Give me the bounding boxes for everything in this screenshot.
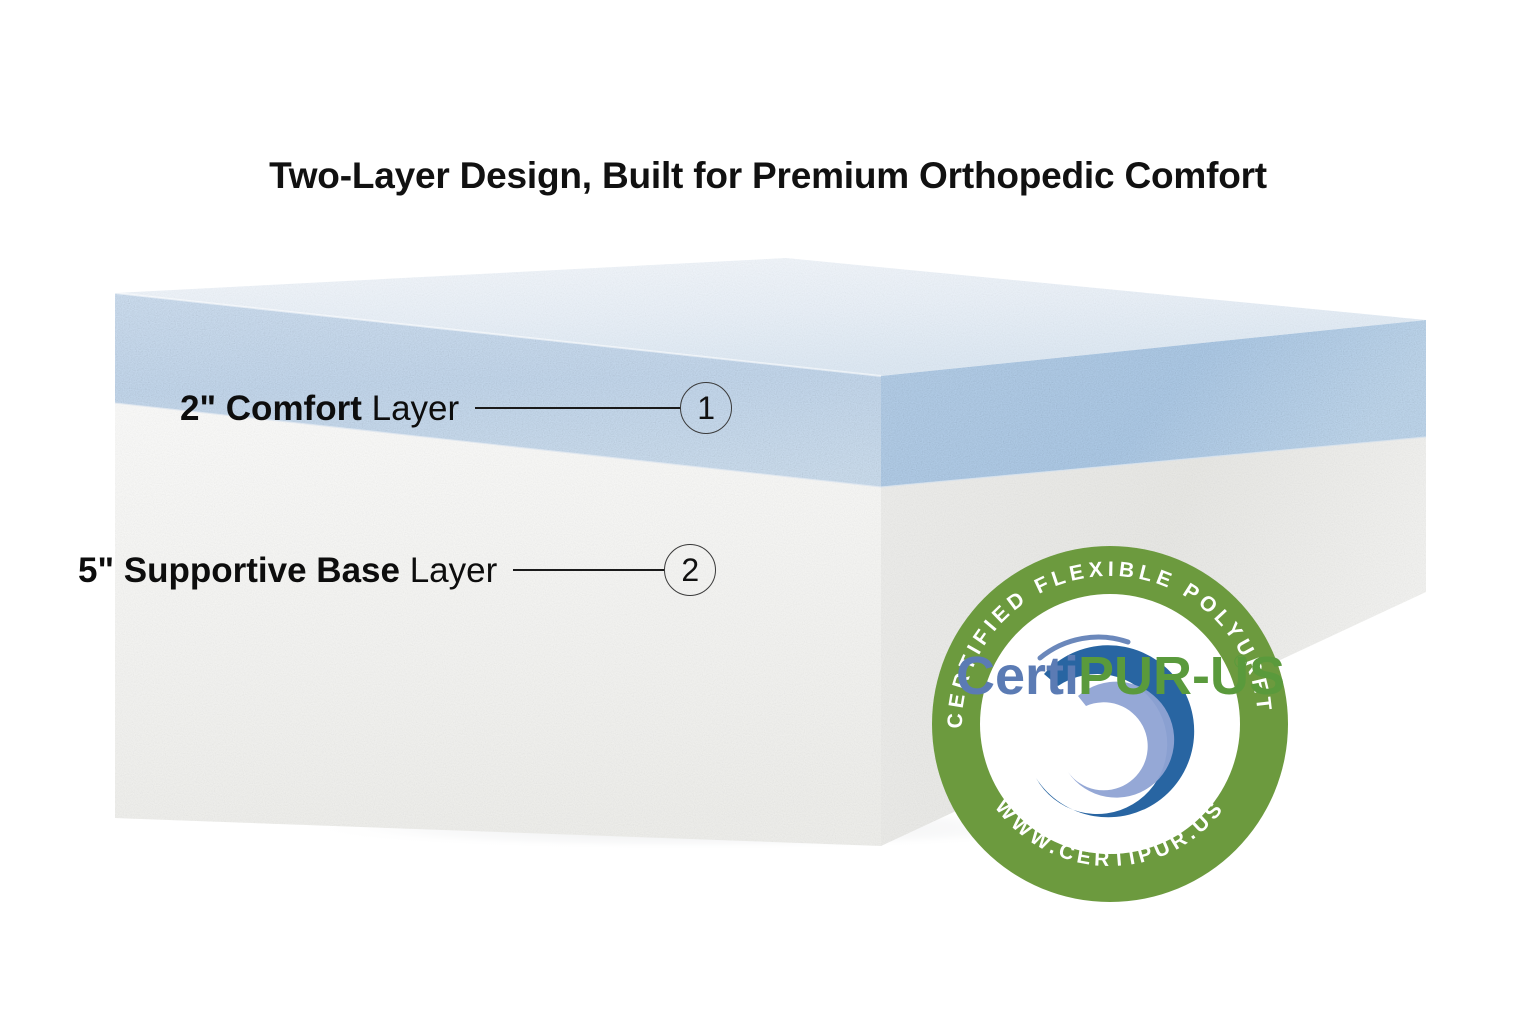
- seal-wordmark-pur-us: PUR-US: [1078, 646, 1285, 706]
- callout-2-bold-text: 5" Supportive Base: [78, 551, 400, 590]
- callout-1-marker: 1: [680, 382, 732, 434]
- seal-registered-mark: ®: [1234, 652, 1247, 672]
- callout-2-leader-line: [513, 569, 665, 571]
- callout-1-bold-text: 2" Comfort: [180, 389, 362, 428]
- callout-1-leader-line: [475, 407, 681, 409]
- callout-1-light-text: Layer: [362, 389, 459, 428]
- certipur-us-seal: CONTAINS CERTIFIED FLEXIBLE POLYURETHANE…: [932, 546, 1288, 902]
- seal-wordmark-certi: Certi: [956, 646, 1079, 706]
- infographic-canvas: Two-Layer Design, Built for Premium Orth…: [0, 0, 1536, 1024]
- callout-base-layer: 5" Supportive Base Layer 2: [78, 543, 716, 597]
- callout-1-label: 2" Comfort Layer: [180, 391, 459, 426]
- callout-2-marker: 2: [664, 544, 716, 596]
- seal-wordmark: Certi PUR-US ®: [956, 646, 1285, 706]
- callout-comfort-layer: 2" Comfort Layer 1: [180, 381, 732, 435]
- foam-block-illustration: [0, 0, 1536, 1024]
- callout-2-light-text: Layer: [400, 551, 497, 590]
- callout-2-label: 5" Supportive Base Layer: [78, 553, 497, 588]
